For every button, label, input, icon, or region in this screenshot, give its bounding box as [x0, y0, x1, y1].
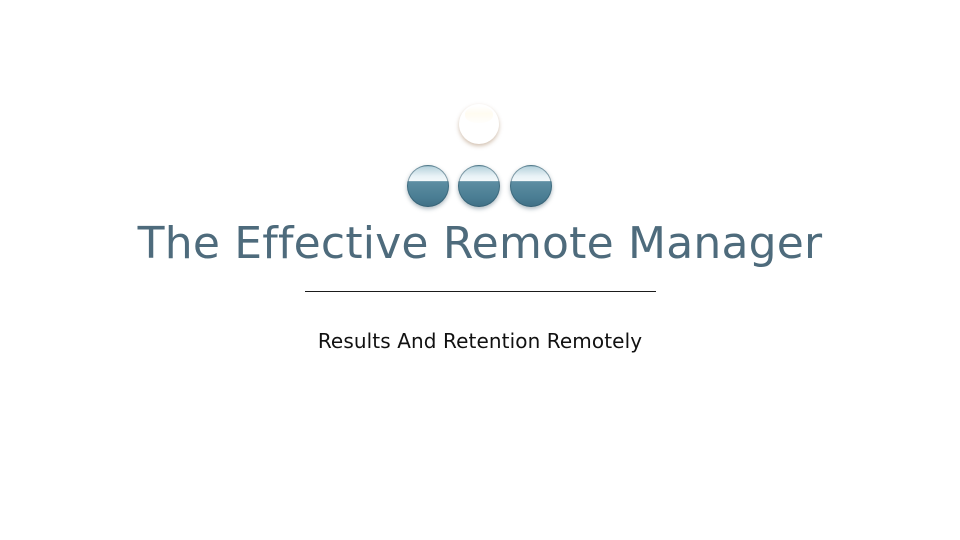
slide-title: The Effective Remote Manager [0, 216, 960, 272]
title-divider [305, 291, 656, 292]
bottom-right-blue-sphere-icon [510, 165, 552, 207]
bottom-center-blue-sphere-icon [458, 165, 500, 207]
slide-subtitle: Results And Retention Remotely [0, 328, 960, 354]
four-sphere-logo [0, 104, 960, 204]
bottom-left-blue-sphere-icon [407, 165, 449, 207]
top-orange-sphere-icon [459, 104, 499, 144]
title-slide: The Effective Remote Manager Results And… [0, 0, 960, 540]
